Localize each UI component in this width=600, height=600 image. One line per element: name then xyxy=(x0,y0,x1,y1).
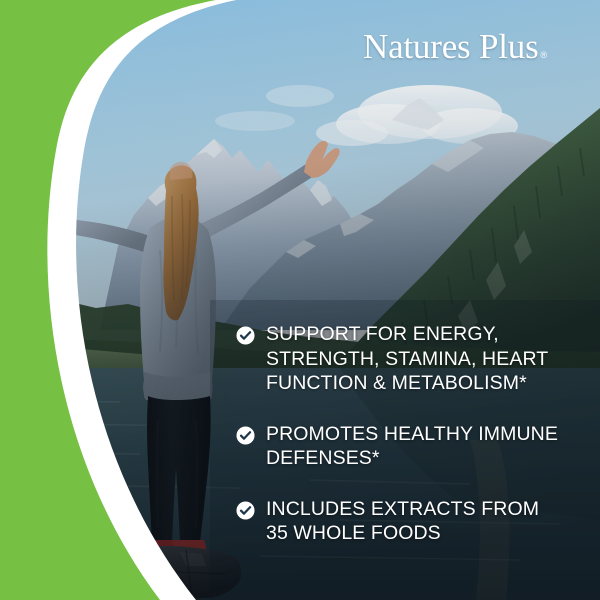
brand-logo: Natures Plus® xyxy=(363,26,588,68)
benefit-text: SUPPORT FOR ENERGY, STRENGTH, STAMINA, H… xyxy=(266,322,548,396)
product-marketing-banner: Natures Plus® SUPPORT FOR ENERGY, STRENG… xyxy=(0,0,600,600)
benefit-text: PROMOTES HEALTHY IMMUNE DEFENSES* xyxy=(266,422,558,471)
benefits-list: SUPPORT FOR ENERGY, STRENGTH, STAMINA, H… xyxy=(236,322,588,546)
list-item: PROMOTES HEALTHY IMMUNE DEFENSES* xyxy=(236,422,588,471)
list-item: INCLUDES EXTRACTS FROM 35 WHOLE FOODS xyxy=(236,497,588,546)
benefit-text: INCLUDES EXTRACTS FROM 35 WHOLE FOODS xyxy=(266,497,539,546)
check-circle-icon xyxy=(236,501,255,520)
list-item: SUPPORT FOR ENERGY, STRENGTH, STAMINA, H… xyxy=(236,322,588,396)
brand-name: Natures Plus xyxy=(363,26,539,68)
registered-trademark-icon: ® xyxy=(541,50,547,60)
check-circle-icon xyxy=(236,326,255,345)
check-circle-icon xyxy=(236,426,255,445)
